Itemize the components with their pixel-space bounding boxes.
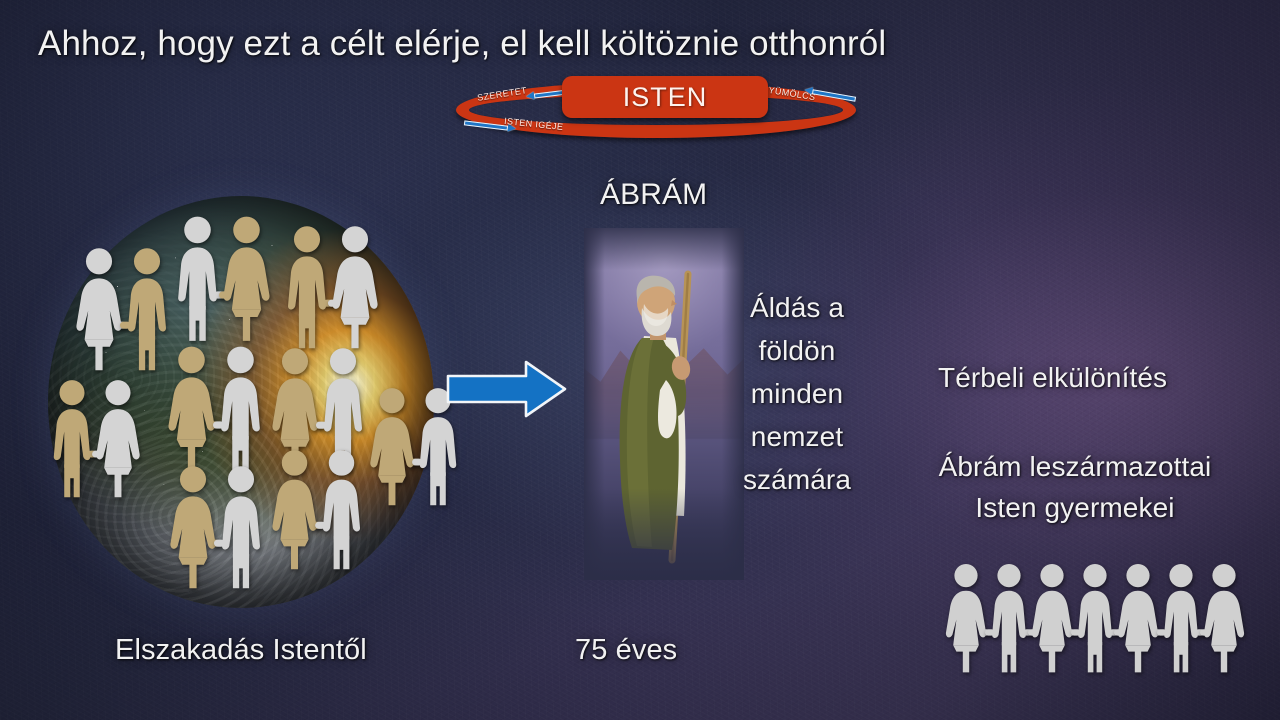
isten-label: ISTEN <box>623 82 708 113</box>
globe-person-6 <box>46 378 98 499</box>
globe-person-15 <box>214 464 268 590</box>
isten-center-box: ISTEN <box>562 76 768 118</box>
abram-illustration <box>584 228 744 580</box>
globe-person-5 <box>328 224 382 350</box>
god-cycle-diagram: SZERETET GYÜMÖLCS ISTEN IGÉJE ISTEN <box>446 68 866 144</box>
globe-person-16 <box>268 448 321 571</box>
globe-person-14 <box>166 464 220 590</box>
globe-person-7 <box>92 378 144 499</box>
slide-canvas: Ahhoz, hogy ezt a célt elérje, el kell k… <box>0 0 1280 720</box>
globe-person-2 <box>170 214 225 343</box>
globe-person-0 <box>72 246 126 372</box>
abram-edge-fade <box>584 228 744 580</box>
family-people-row <box>940 562 1230 667</box>
spatial-separation-label: Térbeli elkülönítés <box>938 362 1167 394</box>
globe-caption: Elszakadás Istentől <box>115 634 367 667</box>
age-caption: 75 éves <box>575 634 677 667</box>
earth-globe-image <box>48 196 434 608</box>
descendants-label: Ábrám leszármazottai Isten gyermekei <box>900 446 1250 528</box>
globe-person-8 <box>164 344 219 473</box>
abram-heading: ÁBRÁM <box>600 178 707 212</box>
globe-person-4 <box>280 224 334 350</box>
blue-right-arrow-icon <box>446 358 568 420</box>
globe-person-3 <box>219 214 274 343</box>
slide-title: Ahhoz, hogy ezt a célt elérje, el kell k… <box>38 22 886 66</box>
family-person-6 <box>1198 562 1250 674</box>
globe-person-12 <box>366 386 418 507</box>
globe-person-9 <box>213 344 268 473</box>
blessing-text: Áldás a földön minden nemzet számára <box>722 286 872 501</box>
globe-person-17 <box>315 448 368 571</box>
